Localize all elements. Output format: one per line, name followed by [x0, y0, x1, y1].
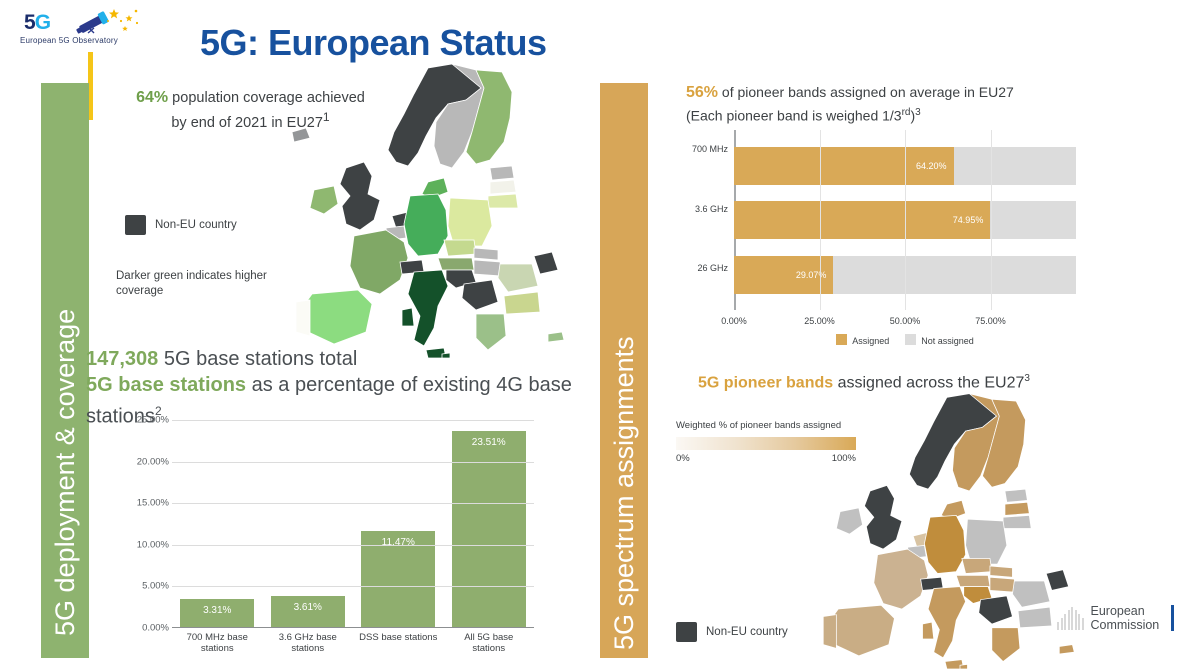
hbar-x-tick-label: 50.00%: [890, 316, 921, 326]
vbar-y-tick-label: 20.00%: [137, 456, 169, 467]
pioneer-statement: 56% of pioneer bands assigned on average…: [686, 82, 1086, 126]
vbar-bar[interactable]: 3.31%: [180, 599, 254, 627]
coverage-map-note: Darker green indicates higher coverage: [116, 269, 296, 299]
vbar-plot-area: 3.31%3.61%11.47%23.51%: [172, 420, 534, 628]
hbar-legend-swatch: [905, 334, 916, 345]
vbar-value-label: 23.51%: [452, 437, 526, 448]
hbar-x-tick-label: 25.00%: [804, 316, 835, 326]
vbar-gridline: [172, 420, 534, 421]
coverage-percent: 64%: [136, 89, 168, 106]
vbar-y-tick-label: 0.00%: [142, 623, 169, 634]
pioneer-bands-bar-chart: 64.20%74.95%29.07% 0.00%25.00%50.00%75.0…: [676, 130, 1076, 345]
base-stations-emphasis: 5G base stations: [86, 374, 246, 396]
pioneer-map-heading-footnote: 3: [1024, 373, 1030, 384]
european-commission-logo: European Commission: [1057, 604, 1174, 632]
ec-line2: Commission: [1091, 618, 1160, 632]
vbar-gridline: [172, 545, 534, 546]
non-eu-swatch-icon: [125, 215, 146, 235]
ec-blue-rule: [1171, 605, 1174, 631]
section-label-spectrum: 5G spectrum assignments: [600, 83, 648, 658]
hbar-gridline: [905, 130, 906, 310]
vbar-gridline: [172, 503, 534, 504]
logo-tagline: European 5G Observatory: [20, 36, 118, 45]
hbar-gridline: [820, 130, 821, 310]
map-legend-non-eu-green: Non-EU country: [125, 215, 237, 235]
hbar-gridline: [991, 130, 992, 310]
ec-flag-icon: [1057, 606, 1084, 630]
ec-logo-text: European Commission: [1091, 604, 1160, 632]
vbar-value-label: 3.31%: [180, 605, 254, 616]
vbar-y-tick-label: 10.00%: [137, 539, 169, 550]
vbar-bars: 3.31%3.61%11.47%23.51%: [172, 420, 534, 627]
base-stations-bar-chart: 0.00%5.00%10.00%15.00%20.00%25.00% 3.31%…: [124, 420, 534, 665]
logo-5g-mark: 5G: [24, 11, 50, 35]
vbar-bar[interactable]: 3.61%: [271, 596, 345, 626]
hbar-value-label: 74.95%: [953, 215, 991, 225]
vbar-value-label: 3.61%: [271, 602, 345, 613]
vbar-baseline: [172, 627, 534, 629]
gradient-legend-min: 0%: [676, 453, 690, 464]
vbar-y-axis: 0.00%5.00%10.00%15.00%20.00%25.00%: [124, 420, 169, 628]
vbar-gridline: [172, 462, 534, 463]
hbar-x-tick-label: 75.00%: [975, 316, 1006, 326]
coverage-map-europe: [276, 58, 576, 358]
vbar-bar-group[interactable]: 11.47%: [357, 420, 440, 627]
hbar-legend-swatch: [836, 334, 847, 345]
non-eu-label: Non-EU country: [706, 626, 788, 638]
hbar-category-label: 700 MHz: [676, 144, 728, 154]
hbar-not-assigned-segment[interactable]: [954, 147, 1076, 185]
hbar-value-label: 29.07%: [796, 270, 834, 280]
vbar-category-label: 3.6 GHz base stations: [266, 632, 349, 654]
hbar-legend: AssignedNot assigned: [734, 334, 1076, 346]
vbar-bar-group[interactable]: 3.61%: [266, 420, 349, 627]
pioneer-map-europe: [800, 388, 1090, 669]
observatory-logo: 5G European 5G Observatory: [18, 6, 142, 50]
vbar-bar[interactable]: 23.51%: [452, 431, 526, 627]
pioneer-text-line2-a: (Each pioneer band is weighed 1/3: [686, 108, 902, 124]
vbar-y-tick-label: 15.00%: [137, 498, 169, 509]
pioneer-text-line2-sup: rd: [902, 107, 911, 118]
hbar-plot-area: 64.20%74.95%29.07%: [734, 130, 1076, 310]
section-label-deployment-text: 5G deployment & coverage: [41, 83, 89, 658]
vbar-category-label: DSS base stations: [357, 632, 440, 654]
telescope-icon: [74, 7, 142, 37]
hbar-legend-item[interactable]: Assigned: [836, 334, 889, 346]
base-stations-total: 147,308: [86, 348, 158, 370]
vbar-y-tick-label: 25.00%: [137, 415, 169, 426]
vbar-category-label: All 5G base stations: [447, 632, 530, 654]
vbar-value-label: 11.47%: [361, 537, 435, 548]
hbar-category-label: 26 GHz: [676, 263, 728, 273]
hbar-value-label: 64.20%: [916, 161, 954, 171]
pioneer-percent: 56%: [686, 84, 718, 101]
non-eu-label: Non-EU country: [155, 219, 237, 231]
section-label-spectrum-text: 5G spectrum assignments: [600, 83, 648, 658]
section-label-deployment: 5G deployment & coverage: [41, 83, 89, 658]
vbar-category-labels: 700 MHz base stations3.6 GHz base statio…: [172, 632, 534, 654]
hbar-not-assigned-segment[interactable]: [833, 256, 1076, 294]
hbar-legend-label: Not assigned: [921, 336, 974, 346]
ec-line1: European: [1091, 604, 1145, 618]
vbar-category-label: 700 MHz base stations: [176, 632, 259, 654]
map-legend-non-eu-brown: Non-EU country: [676, 622, 788, 642]
pioneer-footnote: 3: [915, 107, 921, 118]
hbar-x-tick-label: 0.00%: [721, 316, 747, 326]
non-eu-swatch-icon: [676, 622, 697, 642]
hbar-category-label: 3.6 GHz: [676, 204, 728, 214]
vbar-bar-group[interactable]: 3.31%: [176, 420, 259, 627]
hbar-not-assigned-segment[interactable]: [990, 201, 1076, 239]
vbar-gridline: [172, 586, 534, 587]
vbar-y-tick-label: 5.00%: [142, 581, 169, 592]
hbar-legend-label: Assigned: [852, 336, 889, 346]
base-stations-total-suffix: 5G base stations total: [158, 348, 357, 370]
hbar-legend-item[interactable]: Not assigned: [905, 334, 974, 346]
pioneer-text-line1: of pioneer bands assigned on average in …: [718, 84, 1014, 100]
vbar-bar-group[interactable]: 23.51%: [447, 420, 530, 627]
